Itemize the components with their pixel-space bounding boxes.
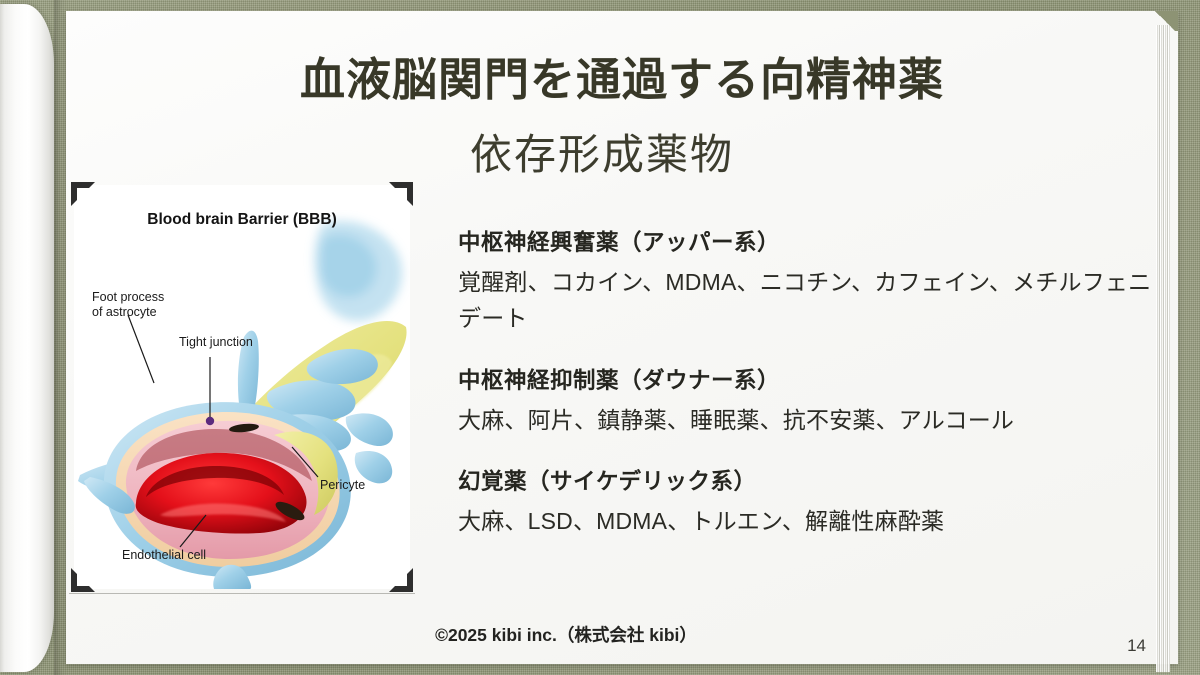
photo-corner-top-left — [69, 180, 97, 208]
figure-caption: Blood brain Barrier (BBB) — [74, 211, 410, 229]
blood-brain-barrier-illustration — [74, 185, 410, 589]
section-heading-cns-stimulants: 中枢神経興奮薬（アッパー系） — [458, 225, 1174, 257]
photo-corner-top-right — [387, 180, 415, 208]
section-hallucinogens: 幻覚薬（サイケデリック系） 大麻、LSD、MDMA、トルエン、解離性麻酔薬 — [458, 464, 1174, 539]
figure-label-endothelial-cell: Endothelial cell — [122, 548, 206, 563]
copyright-notice: ©2025 kibi inc.（株式会社 kibi） — [66, 622, 1066, 647]
page-number: 14 — [1127, 636, 1146, 656]
photo-corner-bottom-right — [387, 566, 415, 594]
figure-label-foot-process: Foot process of astrocyte — [92, 290, 164, 321]
section-body-cns-depressants: 大麻、阿片、鎮静薬、睡眠薬、抗不安薬、アルコール — [458, 402, 1174, 438]
figure-card: Blood brain Barrier (BBB) Foot process o… — [74, 185, 410, 589]
slide-page: 血液脳関門を通過する向精神薬 依存形成薬物 — [66, 11, 1178, 664]
drug-category-list: 中枢神経興奮薬（アッパー系） 覚醒剤、コカイン、MDMA、ニコチン、カフェイン、… — [458, 225, 1174, 565]
bbb-figure-panel: Blood brain Barrier (BBB) Foot process o… — [69, 180, 415, 594]
figure-label-pericyte: Pericyte — [320, 478, 365, 493]
section-cns-stimulants: 中枢神経興奮薬（アッパー系） 覚醒剤、コカイン、MDMA、ニコチン、カフェイン、… — [458, 225, 1174, 337]
page-corner-fold — [1152, 11, 1178, 31]
section-heading-hallucinogens: 幻覚薬（サイケデリック系） — [458, 464, 1174, 496]
figure-label-tight-junction: Tight junction — [179, 335, 253, 350]
book-spine-curl — [0, 4, 54, 672]
section-heading-cns-depressants: 中枢神経抑制薬（ダウナー系） — [458, 363, 1174, 395]
section-cns-depressants: 中枢神経抑制薬（ダウナー系） 大麻、阿片、鎮静薬、睡眠薬、抗不安薬、アルコール — [458, 363, 1174, 438]
page-title: 血液脳関門を通過する向精神薬 — [66, 43, 1178, 108]
section-body-cns-stimulants: 覚醒剤、コカイン、MDMA、ニコチン、カフェイン、メチルフェニデート — [458, 264, 1170, 337]
section-body-hallucinogens: 大麻、LSD、MDMA、トルエン、解離性麻酔薬 — [458, 503, 1174, 539]
book-background: 血液脳関門を通過する向精神薬 依存形成薬物 — [0, 0, 1200, 675]
figure-baseline-rule — [69, 593, 415, 594]
page-subtitle: 依存形成薬物 — [470, 121, 734, 182]
photo-corner-bottom-left — [69, 566, 97, 594]
